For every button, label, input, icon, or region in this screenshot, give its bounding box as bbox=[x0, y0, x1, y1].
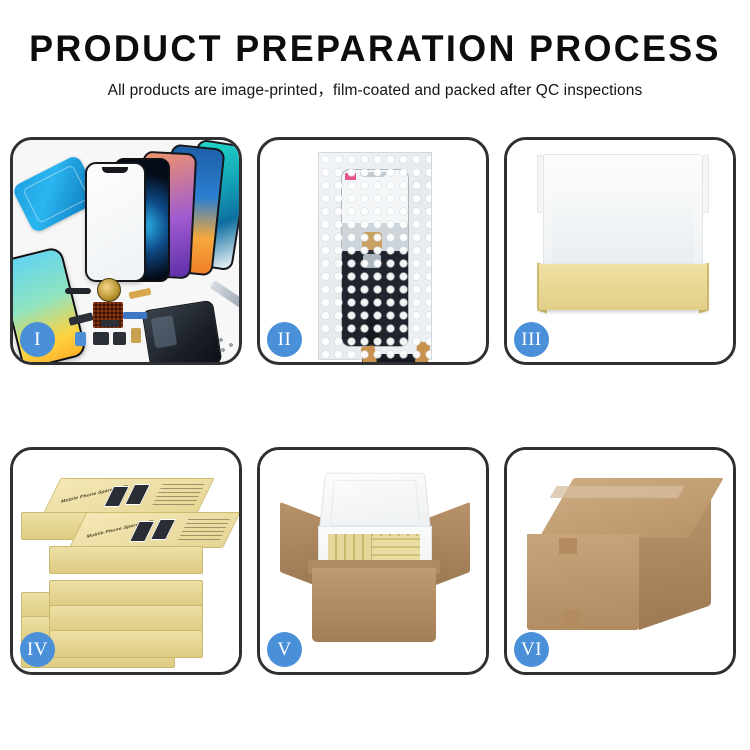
step-badge-4: IV bbox=[20, 632, 55, 667]
carton-body bbox=[312, 568, 436, 642]
box-top-rear: Mobile Phone Spare Parts bbox=[43, 478, 215, 514]
process-step-2[interactable]: II bbox=[257, 137, 489, 365]
sealed-carton-front bbox=[527, 534, 639, 630]
process-panel-grid: I II bbox=[10, 137, 740, 737]
screws-icon bbox=[217, 336, 239, 354]
step-badge-1: I bbox=[20, 322, 55, 357]
small-part-d-icon bbox=[75, 332, 86, 346]
page-title: PRODUCT PREPARATION PROCESS bbox=[11, 30, 739, 67]
small-part-e-icon bbox=[93, 332, 109, 345]
tempered-glass-icon bbox=[85, 162, 146, 282]
step-badge-3: III bbox=[514, 322, 549, 357]
process-step-1[interactable]: I bbox=[10, 137, 242, 365]
page-subtitle: All products are image-printed，film-coat… bbox=[0, 78, 750, 100]
small-part-h-icon bbox=[101, 320, 119, 327]
step-badge-2: II bbox=[267, 322, 302, 357]
carton-tab-lower bbox=[563, 610, 579, 626]
process-step-5[interactable]: V bbox=[257, 447, 489, 675]
page-header: PRODUCT PREPARATION PROCESS All products… bbox=[0, 0, 750, 100]
phone-chassis-icon bbox=[141, 300, 222, 362]
box-top-front: Mobile Phone Spare Parts bbox=[69, 512, 239, 548]
carton-tab-upper bbox=[559, 538, 577, 554]
small-part-b-icon bbox=[129, 288, 152, 299]
bubble-texture bbox=[319, 153, 431, 359]
process-step-6[interactable]: VI bbox=[504, 447, 736, 675]
box-edge-front bbox=[49, 546, 203, 574]
box-spec-lines-rear bbox=[152, 483, 205, 505]
step-badge-5: V bbox=[267, 632, 302, 667]
white-box-lid bbox=[543, 154, 703, 282]
step-badge-6: VI bbox=[514, 632, 549, 667]
small-part-f-icon bbox=[113, 332, 126, 345]
small-part-g-icon bbox=[131, 328, 141, 343]
process-step-3[interactable]: III bbox=[504, 137, 736, 365]
bubble-wrap-bag bbox=[318, 152, 432, 360]
copper-coil-icon bbox=[97, 278, 121, 302]
small-part-c-icon bbox=[123, 312, 147, 319]
process-step-4[interactable]: Mobile Phone Spare Parts Mobile Phone Sp… bbox=[10, 447, 242, 675]
yellow-box-tray bbox=[539, 264, 707, 310]
packing-tape-icon bbox=[550, 486, 685, 498]
flex-strip-icon bbox=[65, 288, 91, 294]
tweezers-icon bbox=[210, 280, 239, 309]
box-spec-lines-front bbox=[178, 518, 231, 540]
